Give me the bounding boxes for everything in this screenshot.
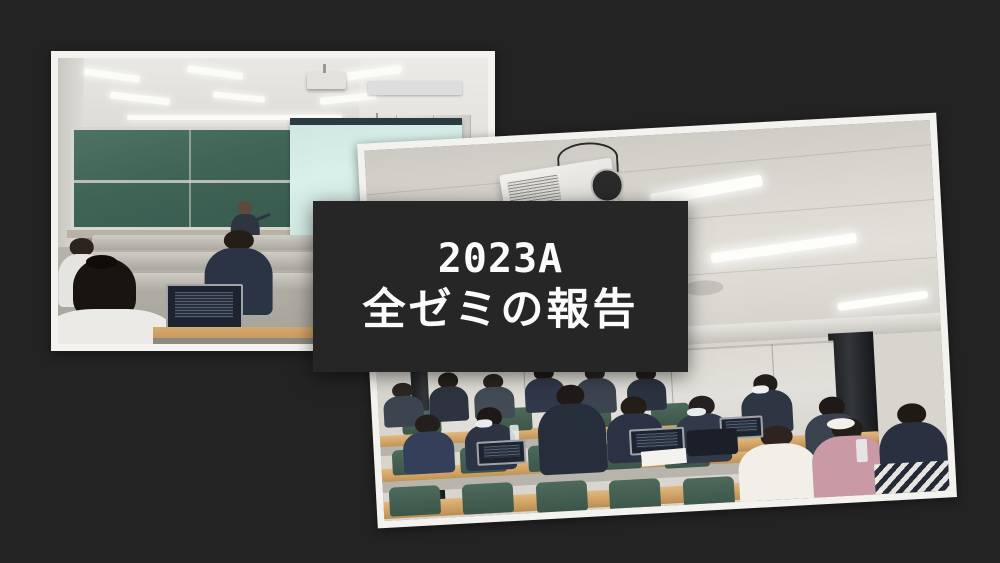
student-hair-tie (86, 255, 117, 269)
chair (683, 476, 735, 508)
laptop (166, 284, 243, 331)
water-bottle (856, 439, 867, 462)
student-body (737, 441, 820, 509)
chair (462, 482, 514, 514)
student (401, 413, 455, 475)
face-mask (475, 419, 492, 428)
chair (535, 480, 587, 512)
patterned-garment (875, 460, 950, 495)
chalkboard (71, 127, 312, 230)
student-body (402, 430, 455, 475)
presentation-slide: 2023A 全ゼミの報告 (0, 0, 1000, 563)
title-line-2: 全ゼミの報告 (363, 285, 639, 336)
student-standing (536, 383, 609, 476)
backpack (686, 428, 738, 457)
title-panel: 2023A 全ゼミの報告 (313, 201, 688, 372)
ceiling-projector (307, 72, 346, 89)
student-body (537, 401, 609, 475)
chair (388, 485, 440, 517)
chair (609, 478, 661, 510)
title-line-1: 2023A (438, 238, 563, 281)
air-conditioner (368, 81, 463, 95)
laptop (477, 439, 528, 466)
